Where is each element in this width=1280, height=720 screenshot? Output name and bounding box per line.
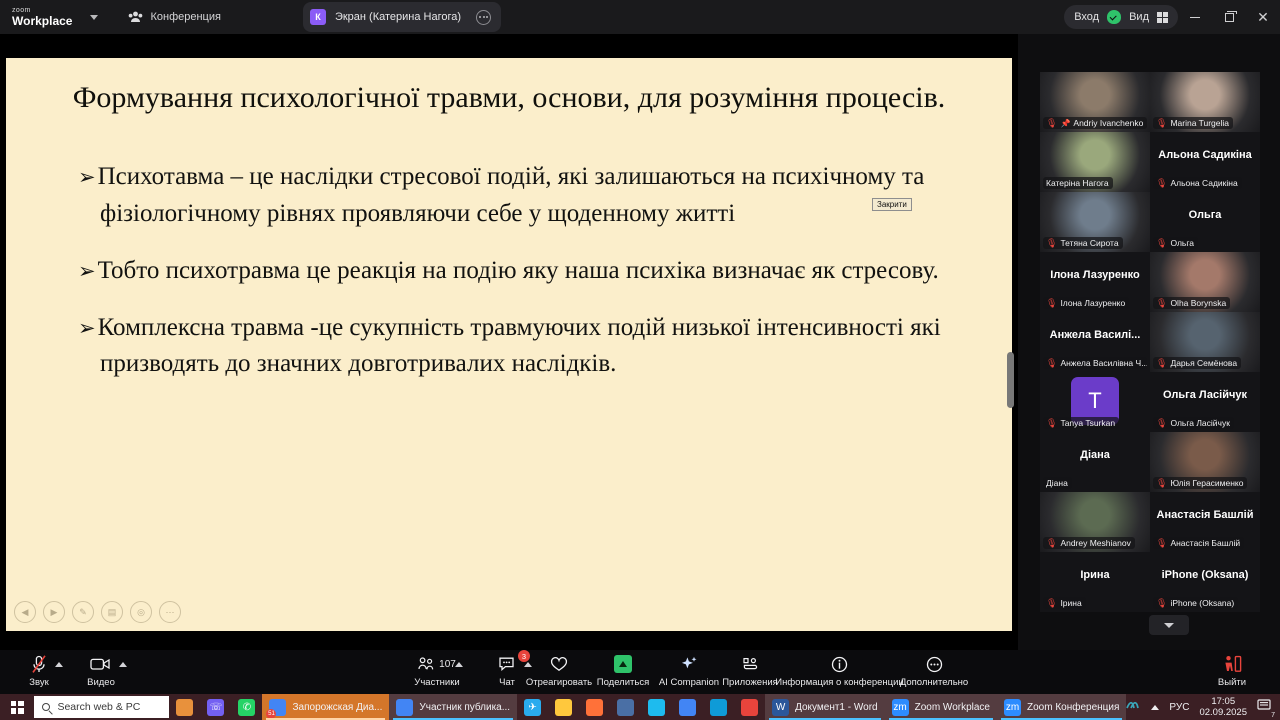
slide-bullet: ➢Психотавма – це наслідки стресової поді…: [78, 159, 942, 232]
participant-name-badge: 🎙Tanya Tsurkan: [1043, 417, 1119, 429]
notification-center-button[interactable]: 7: [1257, 698, 1272, 717]
clock-date: 02.09.2025: [1199, 707, 1247, 718]
more-dots-icon: [926, 654, 943, 674]
microphone-muted-icon: 🎙: [1046, 599, 1057, 608]
taskbar-item[interactable]: [548, 694, 579, 720]
bullet-arrow-icon: ➢: [78, 259, 98, 283]
whatsapp-icon: ✆: [238, 699, 255, 716]
leave-button[interactable]: Выйти: [1202, 654, 1262, 688]
chat-icon: [498, 654, 517, 674]
microphone-muted-icon: 🎙: [1156, 419, 1167, 428]
taskbar-item[interactable]: [672, 694, 703, 720]
telegram-icon: ✈: [524, 699, 541, 716]
maximize-button[interactable]: [1212, 0, 1246, 34]
slide-scrollbar[interactable]: [1007, 352, 1014, 408]
powerpoint-slide[interactable]: Формування психологічної травми, основи,…: [6, 58, 1012, 631]
participant-display-name: Ілона Лазуренко: [1040, 269, 1150, 281]
microphone-muted-icon: 🎙: [1156, 299, 1167, 308]
participant-name-badge: 🎙Ірина: [1043, 597, 1086, 609]
people-icon: [128, 11, 143, 23]
microphone-muted-icon: 🎙: [1156, 479, 1167, 488]
more-options-icon[interactable]: ⋯: [159, 601, 181, 623]
firefox-icon: [586, 699, 603, 716]
participant-display-name: Діана: [1040, 449, 1150, 461]
tab-conference[interactable]: Конференция: [128, 11, 220, 23]
tab-conference-label: Конференция: [150, 11, 220, 23]
notification-count: 7: [1271, 712, 1275, 719]
participant-name-text: Дарья Семёнова: [1170, 358, 1237, 368]
participant-tile[interactable]: Анастасія Башлій🎙Анастасія Башлій: [1150, 492, 1260, 552]
taskbar-item-label: Zoom Конференция: [1027, 702, 1119, 713]
participant-name-text: Ольга: [1170, 238, 1194, 248]
participant-name-text: Andrey Meshianov: [1060, 538, 1130, 548]
participant-name-text: Andriy Ivanchenko: [1073, 118, 1143, 128]
leave-label: Выйти: [1218, 677, 1246, 688]
participant-name-text: Ілона Лазуренко: [1060, 298, 1125, 308]
apps-icon: [741, 654, 759, 674]
shared-screen-stage: Формування психологічної травми, основи,…: [0, 34, 1018, 650]
participant-name-badge: 🎙Анжела Василівна Ч...: [1043, 357, 1147, 369]
participant-name-text: Ольга Ласійчук: [1170, 418, 1230, 428]
leave-meeting-icon: [1222, 654, 1242, 674]
meeting-info-label: Информация о конференции: [775, 677, 904, 688]
participant-gallery: 🎙📌Andriy Ivanchenko🎙Marina TurgeliaКатер…: [1018, 34, 1280, 650]
microphone-muted-icon: 🎙: [1046, 419, 1057, 428]
taskbar-item[interactable]: [641, 694, 672, 720]
participant-name-text: Olha Borynska: [1170, 298, 1226, 308]
taskbar-item-label: Документ1 - Word: [795, 702, 878, 713]
taskbar-item[interactable]: zmZoom Конференция: [997, 694, 1126, 720]
microphone-muted-icon: 🎙: [1156, 239, 1167, 248]
participant-tile[interactable]: Ілона Лазуренко🎙Ілона Лазуренко: [1040, 252, 1150, 312]
participant-display-name: iPhone (Oksana): [1150, 569, 1260, 581]
taskbar-item[interactable]: zmZoom Workplace: [885, 694, 997, 720]
participant-tile[interactable]: ДіанаДіана: [1040, 432, 1150, 492]
close-window-button[interactable]: ✕: [1246, 0, 1280, 34]
taskbar-item-label: Участник публика...: [419, 702, 510, 713]
taskbar-badge: 51: [266, 709, 276, 719]
gimp-icon: [176, 699, 193, 716]
zoom-icon: zm: [1004, 699, 1021, 716]
info-icon: [831, 654, 848, 674]
tab-screen-share-label: Экран (Катерина Нагога): [335, 11, 461, 23]
taskbar-item[interactable]: [169, 694, 200, 720]
participant-name-text: Катеріна Нагога: [1046, 178, 1109, 188]
taskbar-item-label: Zoom Workplace: [915, 702, 990, 713]
slide-bullet-list: ➢Психотавма – це наслідки стресової поді…: [6, 115, 1012, 382]
slide-bullet-text: Психотавма – це наслідки стресової подій…: [98, 163, 925, 226]
video-label: Видео: [87, 677, 115, 688]
participant-tile[interactable]: 🎙Marina Turgelia: [1150, 72, 1260, 132]
chevron-down-icon[interactable]: [90, 15, 98, 20]
microphone-muted-icon: [31, 654, 47, 674]
taskbar-search-box[interactable]: Search web & PC: [34, 696, 169, 718]
minimize-button[interactable]: [1178, 0, 1212, 34]
slide-bullet: ➢Комплексна травма -це сукупність травму…: [78, 310, 942, 383]
start-button[interactable]: [0, 701, 34, 714]
taskbar-item[interactable]: [703, 694, 734, 720]
participant-display-name: Ірина: [1040, 569, 1150, 581]
audio-label: Звук: [29, 677, 48, 688]
microphone-muted-icon: 🎙: [1046, 539, 1057, 548]
slide-bullet-text: Комплексна травма -це сукупність травмую…: [98, 314, 941, 377]
participant-display-name: Анастасія Башлій: [1150, 509, 1260, 521]
edge-icon: [710, 699, 727, 716]
login-button[interactable]: Вход: [1074, 11, 1099, 23]
share-screen-icon: [614, 654, 632, 674]
participant-tile[interactable]: Ольга🎙Ольга: [1150, 192, 1260, 252]
participants-icon: 107: [418, 654, 456, 674]
participant-tile[interactable]: T🎙Tanya Tsurkan: [1040, 372, 1150, 432]
chat-label: Чат: [499, 677, 515, 688]
microphone-muted-icon: 🎙: [1046, 119, 1057, 128]
pen-icon[interactable]: ✎: [72, 601, 94, 623]
participant-name-text: iPhone (Oksana): [1170, 598, 1234, 608]
brand-workplace-text: Workplace: [12, 15, 72, 27]
participant-tile[interactable]: 🎙Тетяна Сирота: [1040, 192, 1150, 252]
participants-label: Участники: [414, 677, 459, 688]
camera-icon: [90, 654, 112, 674]
presenter-controls: ◀ ▶ ✎ ▤ ◎ ⋯: [14, 601, 181, 623]
taskbar-item[interactable]: ☏: [200, 694, 231, 720]
windows-taskbar: Search web & PC ☏✆51Запорожская Диа...Уч…: [0, 694, 1280, 720]
participants-button[interactable]: 107 Участники: [398, 654, 476, 688]
participant-tile[interactable]: Ірина🎙Ірина: [1040, 552, 1150, 612]
participant-name-badge: 🎙Альона Садикіна: [1153, 177, 1242, 189]
participant-name-text: Тетяна Сирота: [1060, 238, 1118, 248]
participant-tile[interactable]: 🎙Дарья Семёнова: [1150, 312, 1260, 372]
slide-bullet: ➢Тобто психотравма це реакція на подію я…: [78, 253, 942, 289]
participant-name-badge: Катеріна Нагога: [1043, 177, 1113, 189]
participant-name-text: Альона Садикіна: [1170, 178, 1237, 188]
taskbar-item[interactable]: WДокумент1 - Word: [765, 694, 885, 720]
participant-tile[interactable]: 🎙Andrey Meshianov: [1040, 492, 1150, 552]
more-label: Дополнительно: [900, 677, 968, 688]
viber-icon: ☏: [207, 699, 224, 716]
participant-tile[interactable]: 🎙📌Andriy Ivanchenko: [1040, 72, 1150, 132]
video-options-caret[interactable]: [119, 662, 127, 667]
participant-name-text: Tanya Tsurkan: [1060, 418, 1115, 428]
participant-tile[interactable]: Ольга Ласійчук🎙Ольга Ласійчук: [1150, 372, 1260, 432]
zoom-icon: zm: [892, 699, 909, 716]
participants-count: 107: [439, 659, 456, 670]
taskbar-item-label: Запорожская Диа...: [292, 702, 382, 713]
chrome-icon: [679, 699, 696, 716]
meeting-info-button[interactable]: Информация о конференции: [772, 654, 907, 688]
participant-name-text: Анастасія Башлій: [1170, 538, 1240, 548]
taskbar-item[interactable]: [610, 694, 641, 720]
window-controls-area: Вход Вид ✕: [1064, 0, 1280, 34]
bullet-arrow-icon: ➢: [78, 165, 98, 189]
participant-name-text: Ірина: [1060, 598, 1081, 608]
participant-tile[interactable]: 🎙Olha Borynska: [1150, 252, 1260, 312]
clock-time: 17:05: [1199, 696, 1247, 707]
language-indicator[interactable]: РУС: [1169, 702, 1189, 713]
participant-display-name: Альона Садикіна: [1150, 149, 1260, 161]
calculator-icon: [617, 699, 634, 716]
microphone-muted-icon: 🎙: [1046, 359, 1057, 368]
participant-name-badge: 🎙Анастасія Башлій: [1153, 537, 1244, 549]
zoom-workplace-logo: zoom Workplace: [12, 7, 72, 27]
search-icon: [42, 703, 50, 711]
tab-screen-share[interactable]: К Экран (Катерина Нагога): [303, 2, 501, 32]
bullet-arrow-icon: ➢: [78, 316, 98, 340]
participant-name-text: Юлія Герасименко: [1170, 478, 1243, 488]
taskbar-item[interactable]: 51Запорожская Диа...: [262, 694, 389, 720]
microphone-muted-icon: 🎙: [1156, 179, 1167, 188]
tray-expand-icon[interactable]: [1151, 705, 1159, 710]
taskbar-item[interactable]: Участник публика...: [389, 694, 517, 720]
microphone-muted-icon: 🎙: [1156, 599, 1167, 608]
participant-name-badge: Діана: [1043, 477, 1072, 489]
taskbar-items: ☏✆51Запорожская Диа...Участник публика..…: [169, 694, 1126, 720]
participant-name-badge: 🎙Olha Borynska: [1153, 297, 1230, 309]
participant-name-badge: 🎙Ілона Лазуренко: [1043, 297, 1129, 309]
participant-display-name: Анжела Василі...: [1040, 329, 1150, 341]
taskbar-item[interactable]: ✈: [517, 694, 548, 720]
microphone-muted-icon: 🎙: [1046, 239, 1057, 248]
participant-tile[interactable]: Катеріна Нагога: [1040, 132, 1150, 192]
next-slide-icon[interactable]: ▶: [43, 601, 65, 623]
participant-name-badge: 🎙Marina Turgelia: [1153, 117, 1233, 129]
video-button[interactable]: Видео: [62, 654, 140, 688]
participant-display-name: Ольга Ласійчук: [1150, 389, 1260, 401]
taskbar-item[interactable]: [579, 694, 610, 720]
participant-name-badge: 🎙Тетяна Сирота: [1043, 237, 1123, 249]
tab-more-icon[interactable]: [476, 10, 491, 25]
microphone-muted-icon: 🎙: [1046, 299, 1057, 308]
taskbar-item[interactable]: ✆: [231, 694, 262, 720]
reactions-label: Отреагировать: [526, 677, 592, 688]
participant-name-text: Діана: [1046, 478, 1068, 488]
apps-label: Приложения: [722, 677, 778, 688]
slide-bullet-text: Тобто психотравма це реакція на подію як…: [98, 257, 939, 284]
taskbar-item[interactable]: [734, 694, 765, 720]
participant-name-badge: 🎙📌Andriy Ivanchenko: [1043, 117, 1147, 129]
participant-name-badge: 🎙Дарья Семёнова: [1153, 357, 1241, 369]
participant-name-text: Marina Turgelia: [1170, 118, 1229, 128]
screen-share-avatar: К: [310, 9, 326, 25]
participant-name-text: Анжела Василівна Ч...: [1060, 358, 1147, 368]
meeting-toolbar: Звук Видео 107 Участники 3 Чат Отреагиро…: [0, 650, 1280, 694]
participant-name-badge: 🎙Andrey Meshianov: [1043, 537, 1135, 549]
microphone-muted-icon: 🎙: [1156, 359, 1167, 368]
heart-icon: [550, 654, 568, 674]
gallery-scroll-down-button[interactable]: [1149, 615, 1189, 635]
grid-view-icon[interactable]: [1157, 12, 1168, 23]
login-view-group: Вход Вид: [1064, 5, 1178, 29]
brand-zoom-text: zoom: [12, 7, 72, 14]
participant-tile[interactable]: Анжела Василі...🎙Анжела Василівна Ч...: [1040, 312, 1150, 372]
participant-tile[interactable]: 🎙Юлія Герасименко: [1150, 432, 1260, 492]
chevron-down-icon: [1164, 623, 1174, 628]
maxthon-icon: [741, 699, 758, 716]
explorer-icon: [555, 699, 572, 716]
sparkle-icon: [680, 654, 698, 674]
more-button[interactable]: Дополнительно: [895, 654, 973, 688]
participant-tile[interactable]: Альона Садикіна🎙Альона Садикіна: [1150, 132, 1260, 192]
clock[interactable]: 17:05 02.09.2025: [1199, 696, 1247, 718]
participant-tile-grid: 🎙📌Andriy Ivanchenko🎙Marina TurgeliaКатер…: [1040, 72, 1260, 612]
search-placeholder-text: Search web & PC: [57, 701, 140, 713]
zoom-icon[interactable]: ◎: [130, 601, 152, 623]
participant-name-badge: 🎙iPhone (Oksana): [1153, 597, 1238, 609]
participant-name-badge: 🎙Ольга Ласійчук: [1153, 417, 1234, 429]
participant-name-badge: 🎙Юлія Герасименко: [1153, 477, 1247, 489]
chrome-icon: 51: [269, 699, 286, 716]
previous-slide-icon[interactable]: ◀: [14, 601, 36, 623]
chrome-icon: [396, 699, 413, 716]
windows-logo-icon: [11, 701, 24, 714]
word-icon: W: [772, 699, 789, 716]
zoom-title-bar: zoom Workplace Конференция К Экран (Кате…: [0, 0, 1280, 34]
ie-icon: [648, 699, 665, 716]
slide-title: Формування психологічної травми, основи,…: [6, 58, 1012, 115]
slide-thumbnails-icon[interactable]: ▤: [101, 601, 123, 623]
participant-tile[interactable]: iPhone (Oksana)🎙iPhone (Oksana): [1150, 552, 1260, 612]
participant-display-name: Ольга: [1150, 209, 1260, 221]
tray-app-icon[interactable]: [1126, 698, 1141, 717]
microphone-muted-icon: 🎙: [1156, 539, 1167, 548]
share-label: Поделиться: [597, 677, 649, 688]
microphone-muted-icon: 🎙: [1156, 119, 1167, 128]
shield-icon[interactable]: [1107, 10, 1121, 24]
system-tray: РУС 17:05 02.09.2025 7: [1126, 696, 1280, 718]
participant-name-badge: 🎙Ольга: [1153, 237, 1198, 249]
pin-icon: 📌: [1060, 119, 1070, 128]
view-button[interactable]: Вид: [1129, 11, 1149, 23]
participants-options-caret[interactable]: [455, 662, 463, 667]
